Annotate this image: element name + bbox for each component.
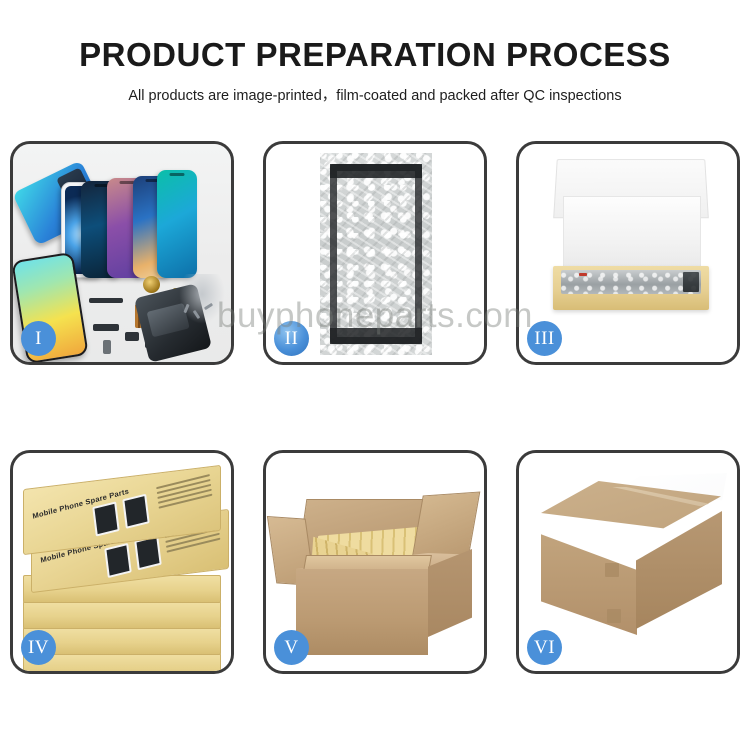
process-step-grid: I II <box>10 141 740 741</box>
speaker-part-icon <box>143 276 160 293</box>
step-badge-3: III <box>527 321 562 356</box>
carton-front-panel <box>296 569 428 655</box>
process-step-5[interactable]: V <box>263 450 487 674</box>
process-step-2[interactable]: II <box>263 141 487 365</box>
kraft-box-tray-icon <box>553 266 709 310</box>
page-subtitle: All products are image-printed，film-coat… <box>0 84 750 105</box>
step-badge-5: V <box>274 630 309 665</box>
wrapped-product-in-box <box>561 270 701 294</box>
process-step-4[interactable]: Mobile Phone Spare Parts Mobile Phone Sp… <box>10 450 234 674</box>
process-step-1[interactable]: I <box>10 141 234 365</box>
foam-insert-icon <box>563 196 701 274</box>
step-badge-4: IV <box>21 630 56 665</box>
wrapped-screen-outline <box>330 164 422 344</box>
step-badge-2: II <box>274 321 309 356</box>
process-step-3[interactable]: III <box>516 141 740 365</box>
product-preparation-infographic: PRODUCT PREPARATION PROCESS All products… <box>0 0 750 750</box>
header: PRODUCT PREPARATION PROCESS All products… <box>0 0 750 130</box>
carton-flap-right <box>412 491 481 558</box>
step-badge-6: VI <box>527 630 562 665</box>
step-badge-1: I <box>21 321 56 356</box>
box-lid-text-lines-1 <box>156 474 214 520</box>
repair-tools-icon <box>179 274 225 324</box>
page-title: PRODUCT PREPARATION PROCESS <box>0 36 750 74</box>
label-marker-icon <box>579 273 587 276</box>
phone-teal <box>157 170 197 278</box>
phone-lineup <box>61 158 231 278</box>
bubble-wrap-icon <box>320 153 432 355</box>
process-step-6[interactable]: VI <box>516 450 740 674</box>
